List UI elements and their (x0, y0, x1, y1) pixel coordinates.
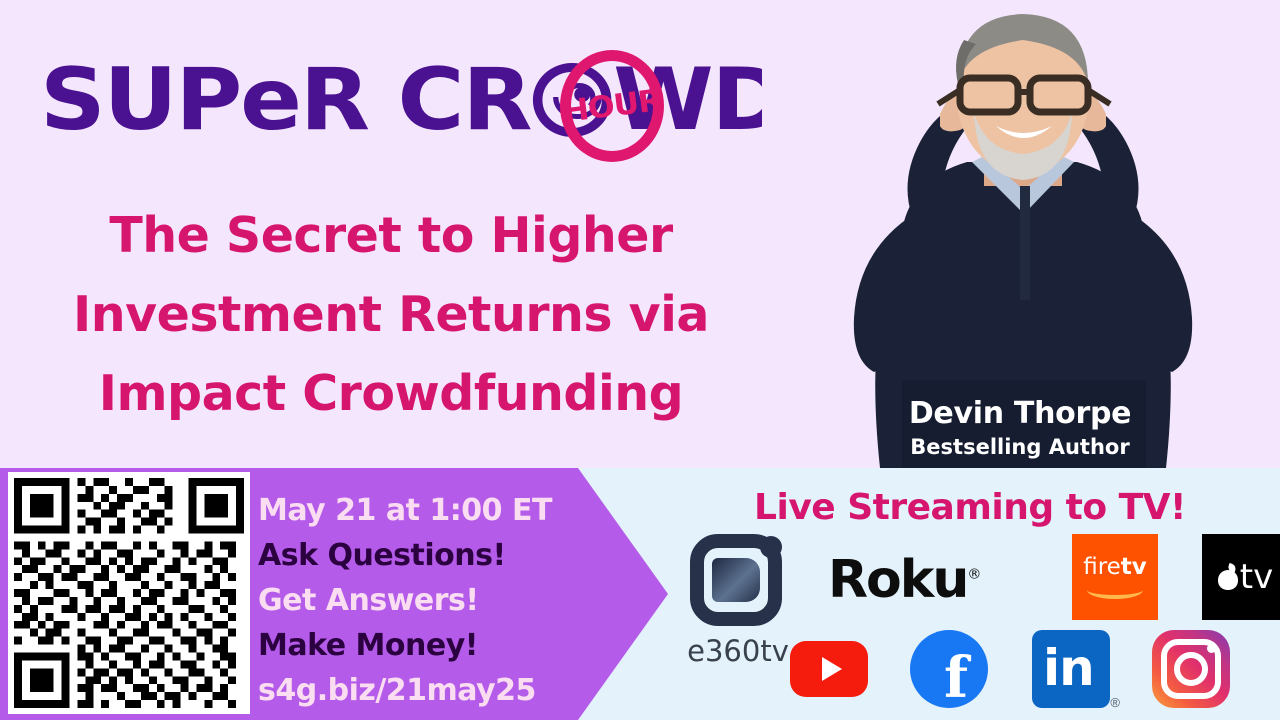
e360tv-inner-icon (712, 558, 760, 602)
event-cta-answers: Get Answers! (258, 578, 558, 623)
headline-line-2: Investment Returns via (46, 275, 736, 354)
event-cta-ask: Ask Questions! (258, 533, 558, 578)
logo-text-part2: eR CR (240, 57, 530, 143)
instagram-box-icon (1152, 630, 1230, 708)
supercrowd-wordmark: SUPeR CR WD (40, 57, 785, 143)
facebook-circle-icon: f (910, 630, 988, 708)
linkedin-icon[interactable]: in ® (1032, 630, 1110, 708)
fire-tv-logo[interactable]: firetv (1072, 534, 1158, 620)
youtube-play-icon (822, 657, 842, 681)
event-date-time: May 21 at 1:00 ET (258, 488, 558, 533)
roku-wordmark: Roku (828, 550, 967, 610)
roku-trademark: ® (967, 567, 979, 583)
instagram-dot-icon (1207, 644, 1216, 653)
apple-icon (1217, 564, 1239, 590)
facebook-icon[interactable]: f (910, 630, 988, 708)
e360tv-logo[interactable]: e360tv (668, 532, 808, 682)
event-url[interactable]: s4g.biz/21may25 (258, 668, 558, 713)
linkedin-box-icon: in ® (1032, 630, 1110, 708)
page-title: The Secret to Higher Investment Returns … (46, 196, 736, 433)
speaker-name: Devin Thorpe (770, 396, 1270, 432)
roku-logo[interactable]: Roku® (828, 550, 1038, 610)
fire-tv-label-fire: fire (1083, 554, 1121, 580)
instagram-lens-icon (1174, 652, 1208, 686)
e360tv-mark-icon (688, 532, 788, 632)
social-icon-row: f in ® (790, 626, 1280, 712)
promo-poster: SUPeR CR WD HOUR The Secret to Higher In… (0, 0, 1280, 720)
instagram-icon[interactable] (1152, 630, 1230, 708)
hour-badge: HOUR (560, 50, 664, 162)
e360tv-wordmark: e360tv (668, 634, 808, 668)
qr-code[interactable] (8, 472, 250, 714)
speaker-role: Bestselling Author (770, 434, 1270, 460)
fire-tv-label-tv: tv (1121, 554, 1147, 580)
fire-tv-wordmark: firetv (1083, 555, 1147, 579)
tv-platform-row: e360tv Roku® firetv tv (660, 532, 1280, 624)
facebook-f-glyph: f (944, 650, 968, 706)
apple-tv-label: tv (1240, 560, 1273, 594)
headline-line-3: Impact Crowdfunding (46, 354, 736, 433)
youtube-icon[interactable] (790, 630, 868, 708)
headline-line-1: The Secret to Higher (46, 196, 736, 275)
apple-body-icon (1218, 570, 1238, 590)
live-streaming-title: Live Streaming to TV! (660, 487, 1280, 528)
top-section: SUPeR CR WD HOUR The Secret to Higher In… (0, 0, 1280, 468)
apple-tv-wordmark: tv (1217, 560, 1273, 594)
apple-tv-logo[interactable]: tv (1202, 534, 1280, 620)
logo-text-part1: SUP (40, 57, 240, 143)
youtube-box-icon (790, 641, 868, 697)
linkedin-registered-mark: ® (1110, 695, 1120, 710)
hour-badge-label: HOUR (561, 83, 663, 130)
linkedin-in-glyph: in (1043, 642, 1094, 694)
amazon-smile-icon (1087, 581, 1143, 599)
event-details-text: May 21 at 1:00 ET Ask Questions! Get Ans… (258, 488, 558, 713)
qr-code-image (14, 478, 244, 708)
event-cta-money: Make Money! (258, 623, 558, 668)
e360tv-dot-icon (760, 536, 782, 558)
